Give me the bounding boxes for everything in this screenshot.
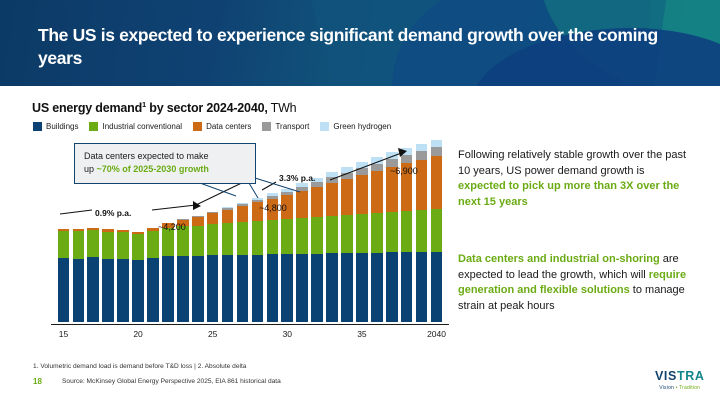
legend-label: Industrial conventional bbox=[102, 122, 182, 131]
insight-1-fragment-1: expected to pick up more than 3X over th… bbox=[458, 180, 679, 208]
callout-line1: Data centers expected to make bbox=[84, 151, 209, 161]
bar-segment-green-hydrogen bbox=[431, 140, 443, 147]
stacked-bar bbox=[162, 223, 174, 322]
annotation-cagr-early: 0.9% p.a. bbox=[95, 208, 131, 218]
bar-segment-industrial-conventional bbox=[296, 218, 308, 254]
legend-item-green-hydrogen: Green hydrogen bbox=[320, 122, 391, 131]
callout-line2-highlight: ~70% of 2025-2030 growth bbox=[97, 164, 209, 174]
bar-segment-industrial-conventional bbox=[267, 220, 279, 254]
bar-segment-buildings bbox=[311, 254, 323, 322]
bar-segment-transport bbox=[431, 147, 443, 156]
stacked-bar bbox=[147, 228, 159, 322]
bar-segment-industrial-conventional bbox=[341, 215, 353, 253]
bar-segment-buildings bbox=[192, 256, 204, 322]
bar-segment-industrial-conventional bbox=[58, 231, 70, 258]
bar-segment-industrial-conventional bbox=[147, 231, 159, 258]
bar-segment-buildings bbox=[281, 254, 293, 322]
bar-segment-buildings bbox=[237, 255, 249, 322]
logo-wordmark: VISTRA bbox=[655, 370, 704, 383]
bar-segment-data-centers bbox=[431, 156, 443, 209]
annotation-cagr-late: 3.3% p.a. bbox=[279, 173, 315, 183]
chart-legend: BuildingsIndustrial conventionalData cen… bbox=[33, 122, 391, 131]
bar-column-29[interactable] bbox=[265, 140, 280, 322]
bar-segment-buildings bbox=[102, 259, 114, 322]
bar-segment-industrial-conventional bbox=[252, 221, 264, 255]
bar-segment-data-centers bbox=[237, 206, 249, 222]
stacked-bar bbox=[73, 229, 85, 322]
legend-item-data-centers: Data centers bbox=[193, 122, 251, 131]
bar-segment-industrial-conventional bbox=[416, 210, 428, 252]
logo-wordmark-dark: VIS bbox=[655, 369, 677, 383]
bar-column-31[interactable] bbox=[295, 140, 310, 322]
bar-segment-buildings bbox=[371, 253, 383, 322]
legend-swatch-icon bbox=[89, 122, 98, 131]
bar-segment-industrial-conventional bbox=[326, 216, 338, 253]
bar-segment-transport bbox=[416, 151, 428, 160]
x-tick-label-2040: 2040 bbox=[427, 329, 446, 339]
bar-segment-industrial-conventional bbox=[311, 217, 323, 254]
bar-segment-industrial-conventional bbox=[401, 211, 413, 252]
bar-segment-industrial-conventional bbox=[132, 234, 144, 260]
bar-segment-buildings bbox=[252, 255, 264, 322]
annotation-value-2040: ~6,900 bbox=[390, 166, 418, 176]
bar-segment-industrial-conventional bbox=[207, 224, 219, 255]
bar-segment-industrial-conventional bbox=[356, 214, 368, 253]
insight-1-fragment-0: Following relatively stable growth over … bbox=[458, 149, 686, 177]
bar-segment-industrial-conventional bbox=[222, 223, 234, 255]
x-axis-tick-labels: 15202530352040 bbox=[56, 329, 444, 345]
bar-segment-industrial-conventional bbox=[386, 212, 398, 253]
logo-tagline-plain: Vision bbox=[659, 385, 675, 391]
legend-item-buildings: Buildings bbox=[33, 122, 78, 131]
bar-segment-buildings bbox=[117, 259, 129, 322]
bar-segment-data-centers bbox=[356, 175, 368, 214]
callout-line2-plain: up bbox=[84, 164, 97, 174]
bar-segment-data-centers bbox=[222, 210, 234, 224]
stacked-bar bbox=[431, 140, 443, 322]
chart-title-unit: TWh bbox=[268, 101, 297, 115]
legend-item-industrial-conventional: Industrial conventional bbox=[89, 122, 182, 131]
legend-label: Green hydrogen bbox=[333, 122, 391, 131]
bar-segment-green-hydrogen bbox=[401, 148, 413, 155]
slide-header: The US is expected to experience signifi… bbox=[0, 0, 720, 86]
bar-segment-data-centers bbox=[371, 171, 383, 213]
legend-label: Buildings bbox=[46, 122, 78, 131]
x-tick-label-25: 25 bbox=[208, 329, 217, 339]
logo-wordmark-teal: TRA bbox=[677, 369, 705, 383]
chart-title-main: US energy demand bbox=[32, 101, 142, 115]
stacked-bar bbox=[222, 207, 234, 322]
stacked-bar bbox=[192, 216, 204, 322]
bar-segment-industrial-conventional bbox=[73, 231, 85, 259]
bar-segment-data-centers bbox=[207, 213, 219, 224]
x-tick-label-30: 30 bbox=[283, 329, 292, 339]
stacked-bar bbox=[326, 172, 338, 322]
bar-segment-buildings bbox=[58, 258, 70, 322]
bar-segment-buildings bbox=[162, 256, 174, 322]
bar-segment-industrial-conventional bbox=[281, 219, 293, 254]
x-tick-label-35: 35 bbox=[357, 329, 366, 339]
bar-column-32[interactable] bbox=[310, 140, 325, 322]
legend-label: Transport bbox=[275, 122, 309, 131]
bar-segment-industrial-conventional bbox=[237, 222, 249, 255]
bar-segment-industrial-conventional bbox=[162, 228, 174, 257]
bar-column-35[interactable] bbox=[354, 140, 369, 322]
legend-swatch-icon bbox=[33, 122, 42, 131]
bar-segment-buildings bbox=[386, 252, 398, 322]
stacked-bar bbox=[386, 152, 398, 322]
bar-segment-data-centers bbox=[192, 217, 204, 226]
bar-segment-buildings bbox=[132, 260, 144, 322]
bar-segment-industrial-conventional bbox=[117, 232, 129, 259]
chart-title: US energy demand1 by sector 2024-2040, T… bbox=[32, 100, 296, 115]
source-text: Source: McKinsey Global Energy Perspecti… bbox=[62, 378, 281, 385]
stacked-bar bbox=[237, 203, 249, 322]
bar-column-15[interactable] bbox=[56, 140, 71, 322]
bar-segment-buildings bbox=[73, 259, 85, 322]
bar-segment-buildings bbox=[222, 255, 234, 322]
stacked-bar bbox=[117, 230, 129, 322]
logo-tagline: Vision • Tradition bbox=[655, 385, 704, 391]
legend-swatch-icon bbox=[320, 122, 329, 131]
bar-segment-buildings bbox=[401, 252, 413, 322]
stacked-bar bbox=[311, 178, 323, 322]
chart-title-rest: by sector 2024-2040, bbox=[146, 101, 268, 115]
bar-segment-industrial-conventional bbox=[102, 232, 114, 259]
bar-segment-buildings bbox=[341, 253, 353, 322]
bar-segment-data-centers bbox=[296, 191, 308, 218]
insight-paragraph-1: Following relatively stable growth over … bbox=[458, 148, 694, 210]
bar-segment-transport bbox=[371, 164, 383, 171]
stacked-bar bbox=[102, 229, 114, 322]
bar-column-30[interactable] bbox=[280, 140, 295, 322]
annotation-value-2030: ~4,800 bbox=[259, 203, 287, 213]
x-tick-label-20: 20 bbox=[133, 329, 142, 339]
bar-segment-buildings bbox=[416, 252, 428, 322]
vistra-logo: VISTRA Vision • Tradition bbox=[655, 370, 704, 391]
legend-swatch-icon bbox=[193, 122, 202, 131]
legend-item-transport: Transport bbox=[262, 122, 309, 131]
stacked-bar bbox=[371, 157, 383, 322]
bar-segment-data-centers bbox=[326, 183, 338, 216]
stacked-bar bbox=[356, 162, 368, 322]
stacked-bar bbox=[341, 167, 353, 322]
stacked-bar bbox=[207, 212, 219, 322]
stacked-bar bbox=[177, 219, 189, 322]
stacked-bar bbox=[87, 228, 99, 322]
bar-column-33[interactable] bbox=[325, 140, 340, 322]
bar-segment-buildings bbox=[87, 257, 99, 322]
bar-segment-green-hydrogen bbox=[416, 144, 428, 151]
legend-swatch-icon bbox=[262, 122, 271, 131]
bar-segment-industrial-conventional bbox=[87, 230, 99, 258]
page-number: 18 bbox=[33, 377, 42, 386]
bar-segment-green-hydrogen bbox=[386, 152, 398, 159]
callout-data-centers: Data centers expected to make up ~70% of… bbox=[74, 143, 256, 184]
legend-label: Data centers bbox=[206, 122, 251, 131]
bar-column-2040[interactable] bbox=[429, 140, 444, 322]
bar-segment-industrial-conventional bbox=[431, 209, 443, 252]
slide-title: The US is expected to experience signifi… bbox=[38, 24, 658, 71]
bar-segment-buildings bbox=[326, 253, 338, 322]
logo-tagline-green: • Tradition bbox=[676, 385, 701, 391]
bar-segment-buildings bbox=[147, 258, 159, 322]
footnote-text: 1. Volumetric demand load is demand befo… bbox=[33, 363, 246, 370]
x-tick-label-15: 15 bbox=[59, 329, 68, 339]
bar-segment-buildings bbox=[207, 255, 219, 322]
bar-segment-industrial-conventional bbox=[192, 226, 204, 256]
stacked-bar bbox=[252, 198, 264, 322]
bar-segment-industrial-conventional bbox=[371, 213, 383, 253]
bar-segment-buildings bbox=[177, 256, 189, 322]
insight-2-fragment-0: Data centers and industrial on-shoring bbox=[458, 253, 660, 265]
insight-paragraph-2: Data centers and industrial on-shoring a… bbox=[458, 252, 694, 314]
bar-column-36[interactable] bbox=[369, 140, 384, 322]
bar-column-34[interactable] bbox=[340, 140, 355, 322]
bar-segment-transport bbox=[401, 155, 413, 163]
stacked-bar bbox=[58, 229, 70, 322]
stacked-bar bbox=[132, 232, 144, 322]
stacked-bar bbox=[296, 183, 308, 322]
x-axis-line bbox=[51, 324, 449, 325]
bar-segment-data-centers bbox=[341, 179, 353, 215]
bar-segment-buildings bbox=[267, 254, 279, 322]
bar-segment-buildings bbox=[431, 252, 443, 322]
bar-segment-buildings bbox=[356, 253, 368, 322]
bar-segment-data-centers bbox=[311, 187, 323, 217]
annotation-value-2024: ~4,200 bbox=[158, 222, 186, 232]
bar-segment-buildings bbox=[296, 254, 308, 322]
